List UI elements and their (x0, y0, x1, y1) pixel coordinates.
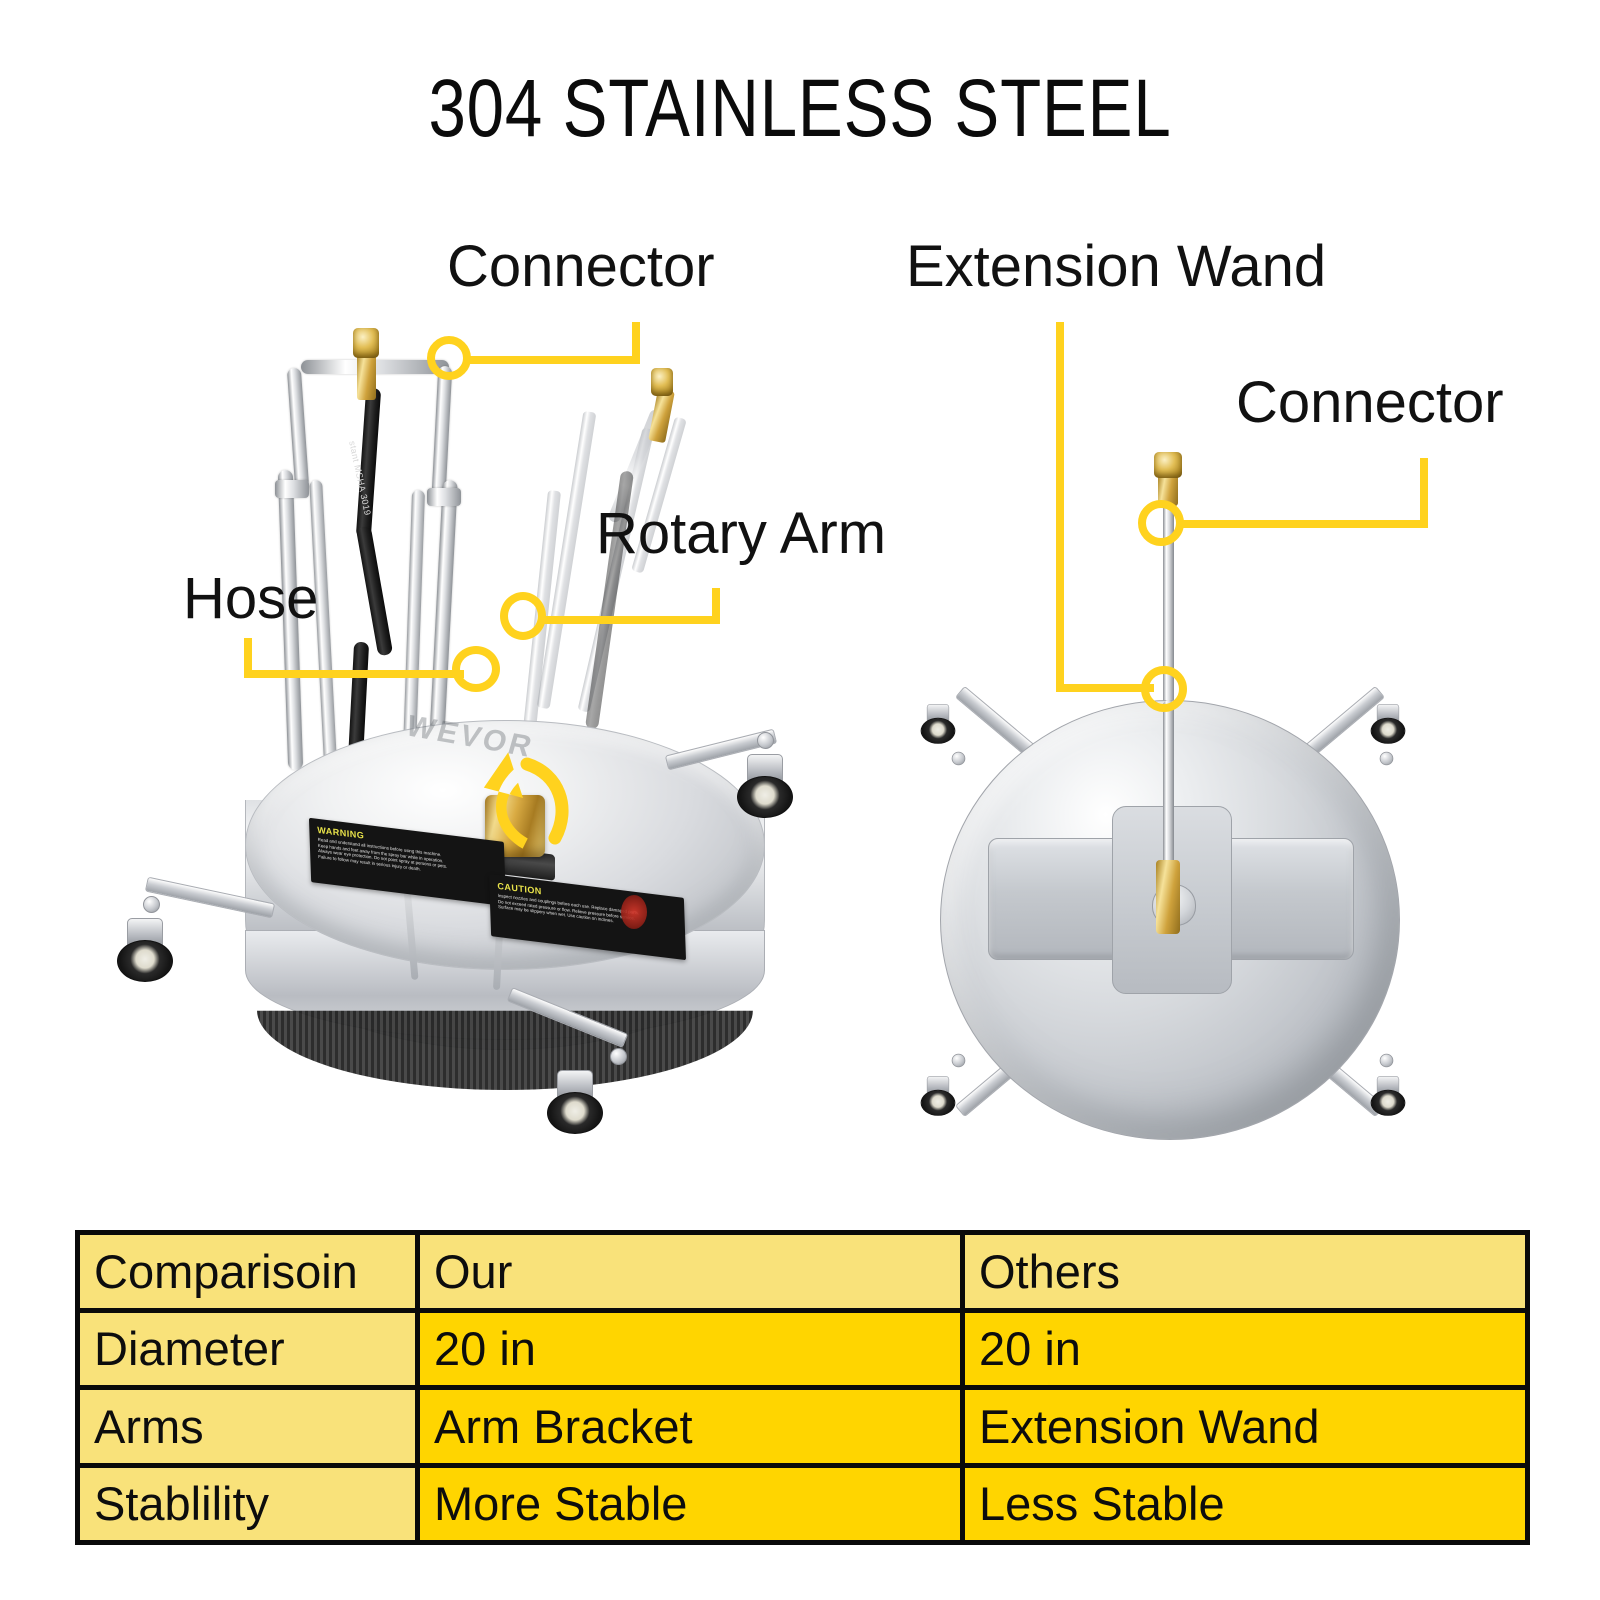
caster-wheel-front-left (115, 918, 175, 982)
caster-wheel-bottom-left (919, 1076, 956, 1116)
caster-wheel-bottom-right (1369, 1076, 1406, 1116)
callout-label-rotary-arm: Rotary Arm (596, 505, 886, 563)
infographic-page: 304 STAINLESS STEEL stant MSHA 3019 (0, 0, 1600, 1600)
caster-bolt-bottom-left (952, 1054, 966, 1068)
table-row: Arms Arm Bracket Extension Wand (78, 1388, 1528, 1466)
caster-wheel-top-left (919, 704, 956, 744)
caster-wheel-front-right (545, 1070, 605, 1134)
ring-extension-wand (1141, 666, 1187, 712)
table-cell-our-stability: More Stable (418, 1465, 963, 1543)
leader-rotary-arm-horizontal (540, 616, 720, 624)
leader-connector-left-horizontal (470, 356, 640, 364)
callout-label-connector-left: Connector (447, 238, 715, 296)
wand-lower-brass-coupler-overlay (1156, 860, 1180, 934)
table-header-others: Others (963, 1233, 1528, 1311)
caster-wheel-top-right (1369, 704, 1406, 744)
hose-brass-ferrule (357, 352, 376, 400)
ghost-connector-nut (651, 368, 673, 396)
table-cell-our-arms: Arm Bracket (418, 1388, 963, 1466)
handle-right-post (432, 366, 453, 495)
table-header-row: Comparisoin Our Others (78, 1233, 1528, 1311)
table-header-comparison: Comparisoin (78, 1233, 418, 1311)
callout-label-connector-right: Connector (1236, 374, 1504, 432)
callout-label-hose: Hose (183, 570, 318, 628)
connector-nut-right (1154, 452, 1182, 478)
comparison-table: Comparisoin Our Others Diameter 20 in 20… (75, 1230, 1530, 1545)
leader-extension-wand-horizontal (1056, 684, 1154, 692)
clamp-left (275, 480, 309, 498)
caster-bolt-top-right (1380, 752, 1394, 766)
caster-bolt-top-left (952, 752, 966, 766)
caster-wheel-back-right (735, 754, 795, 818)
leader-hose-horizontal (244, 670, 464, 678)
ring-hose (452, 646, 500, 692)
table-cell-label-diameter: Diameter (78, 1310, 418, 1388)
page-title: 304 STAINLESS STEEL (144, 62, 1456, 156)
table-cell-label-arms: Arms (78, 1388, 418, 1466)
table-cell-others-diameter: 20 in (963, 1310, 1528, 1388)
table-cell-others-arms: Extension Wand (963, 1388, 1528, 1466)
table-row: Stablility More Stable Less Stable (78, 1465, 1528, 1543)
table-cell-others-stability: Less Stable (963, 1465, 1528, 1543)
ring-connector-right (1138, 500, 1184, 546)
leader-extension-wand-vertical (1056, 322, 1064, 684)
leader-connector-right-horizontal (1180, 520, 1428, 528)
table-cell-our-diameter: 20 in (418, 1310, 963, 1388)
callout-label-extension-wand: Extension Wand (906, 238, 1326, 296)
table-header-our: Our (418, 1233, 963, 1311)
table-cell-label-stability: Stablility (78, 1465, 418, 1543)
table-row: Diameter 20 in 20 in (78, 1310, 1528, 1388)
caster-bolt-front-left (143, 896, 160, 913)
rim-red-decal (621, 895, 647, 929)
connector-nut-left (353, 328, 379, 358)
caster-bolt-back-right (757, 732, 774, 749)
product-image-flat-view (880, 460, 1440, 1160)
caster-bolt-bottom-right (1380, 1054, 1394, 1068)
leader-connector-right-vertical (1420, 458, 1428, 526)
hose-print-text: stant MSHA 3019 (259, 440, 360, 476)
caster-bolt-front-right (610, 1048, 627, 1065)
ring-connector-left (427, 336, 471, 380)
hose-mid (356, 526, 393, 657)
product-image-angled-view: stant MSHA 3019 WARNING Read and u (105, 330, 805, 1160)
clamp-right (427, 488, 461, 506)
ring-rotary-arm (500, 592, 546, 640)
